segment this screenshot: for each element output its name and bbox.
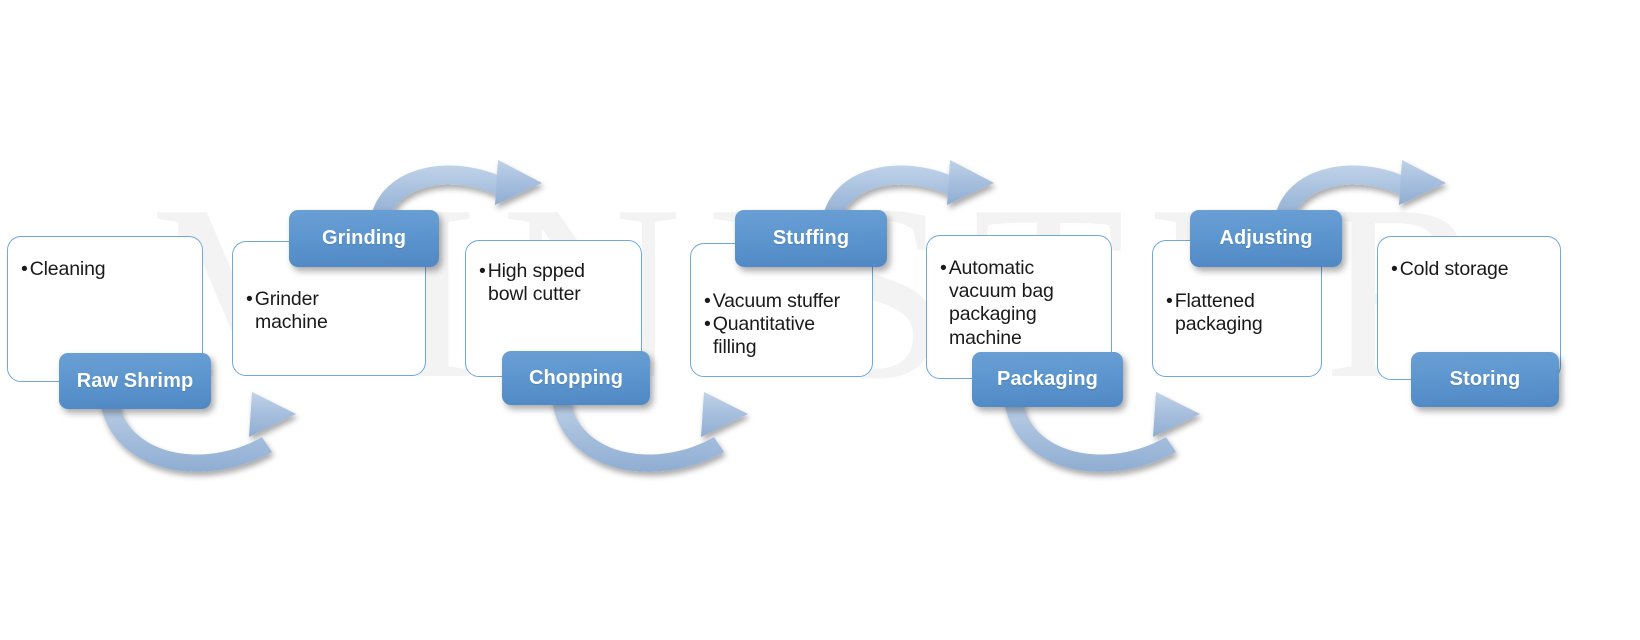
detail-bullets: Cleaning xyxy=(21,258,191,281)
stage-label-chopping[interactable]: Chopping xyxy=(502,351,650,405)
stage-label-packaging[interactable]: Packaging xyxy=(972,352,1123,407)
bullet-item: Grinder machine xyxy=(246,288,418,334)
bullet-item: Cleaning xyxy=(21,258,191,281)
stage-label-raw-shrimp[interactable]: Raw Shrimp xyxy=(59,353,211,409)
detail-bullets: Vacuum stuffer Quantitative filling xyxy=(704,290,870,360)
bullet-item: Vacuum stuffer xyxy=(704,290,870,313)
stage-label-adjusting[interactable]: Adjusting xyxy=(1190,210,1342,267)
bullet-item: Automatic vacuum bag packaging machine xyxy=(940,257,1108,350)
detail-bullets: Automatic vacuum bag packaging machine xyxy=(940,257,1108,350)
stage-label-storing[interactable]: Storing xyxy=(1411,352,1559,407)
stage-label-text: Adjusting xyxy=(1219,227,1312,250)
detail-bullets: Flattened packaging xyxy=(1166,290,1322,336)
detail-bullets: Cold storage xyxy=(1391,258,1559,281)
stage-label-grinding[interactable]: Grinding xyxy=(289,210,439,267)
detail-bullets: High spped bowl cutter xyxy=(479,260,639,306)
bullet-item: Flattened packaging xyxy=(1166,290,1322,336)
stage-label-text: Stuffing xyxy=(773,227,849,250)
process-flow-diagram: M I N I S T E R xyxy=(0,0,1640,640)
stage-label-text: Storing xyxy=(1450,368,1521,391)
bullet-item: High spped bowl cutter xyxy=(479,260,639,306)
bullet-item: Cold storage xyxy=(1391,258,1559,281)
stage-label-text: Chopping xyxy=(529,367,623,390)
stage-label-text: Grinding xyxy=(322,227,406,250)
stage-label-text: Raw Shrimp xyxy=(77,370,194,393)
stage-label-stuffing[interactable]: Stuffing xyxy=(735,210,887,267)
detail-bullets: Grinder machine xyxy=(246,288,418,334)
stage-label-text: Packaging xyxy=(997,368,1098,391)
bullet-item: Quantitative filling xyxy=(704,313,870,359)
